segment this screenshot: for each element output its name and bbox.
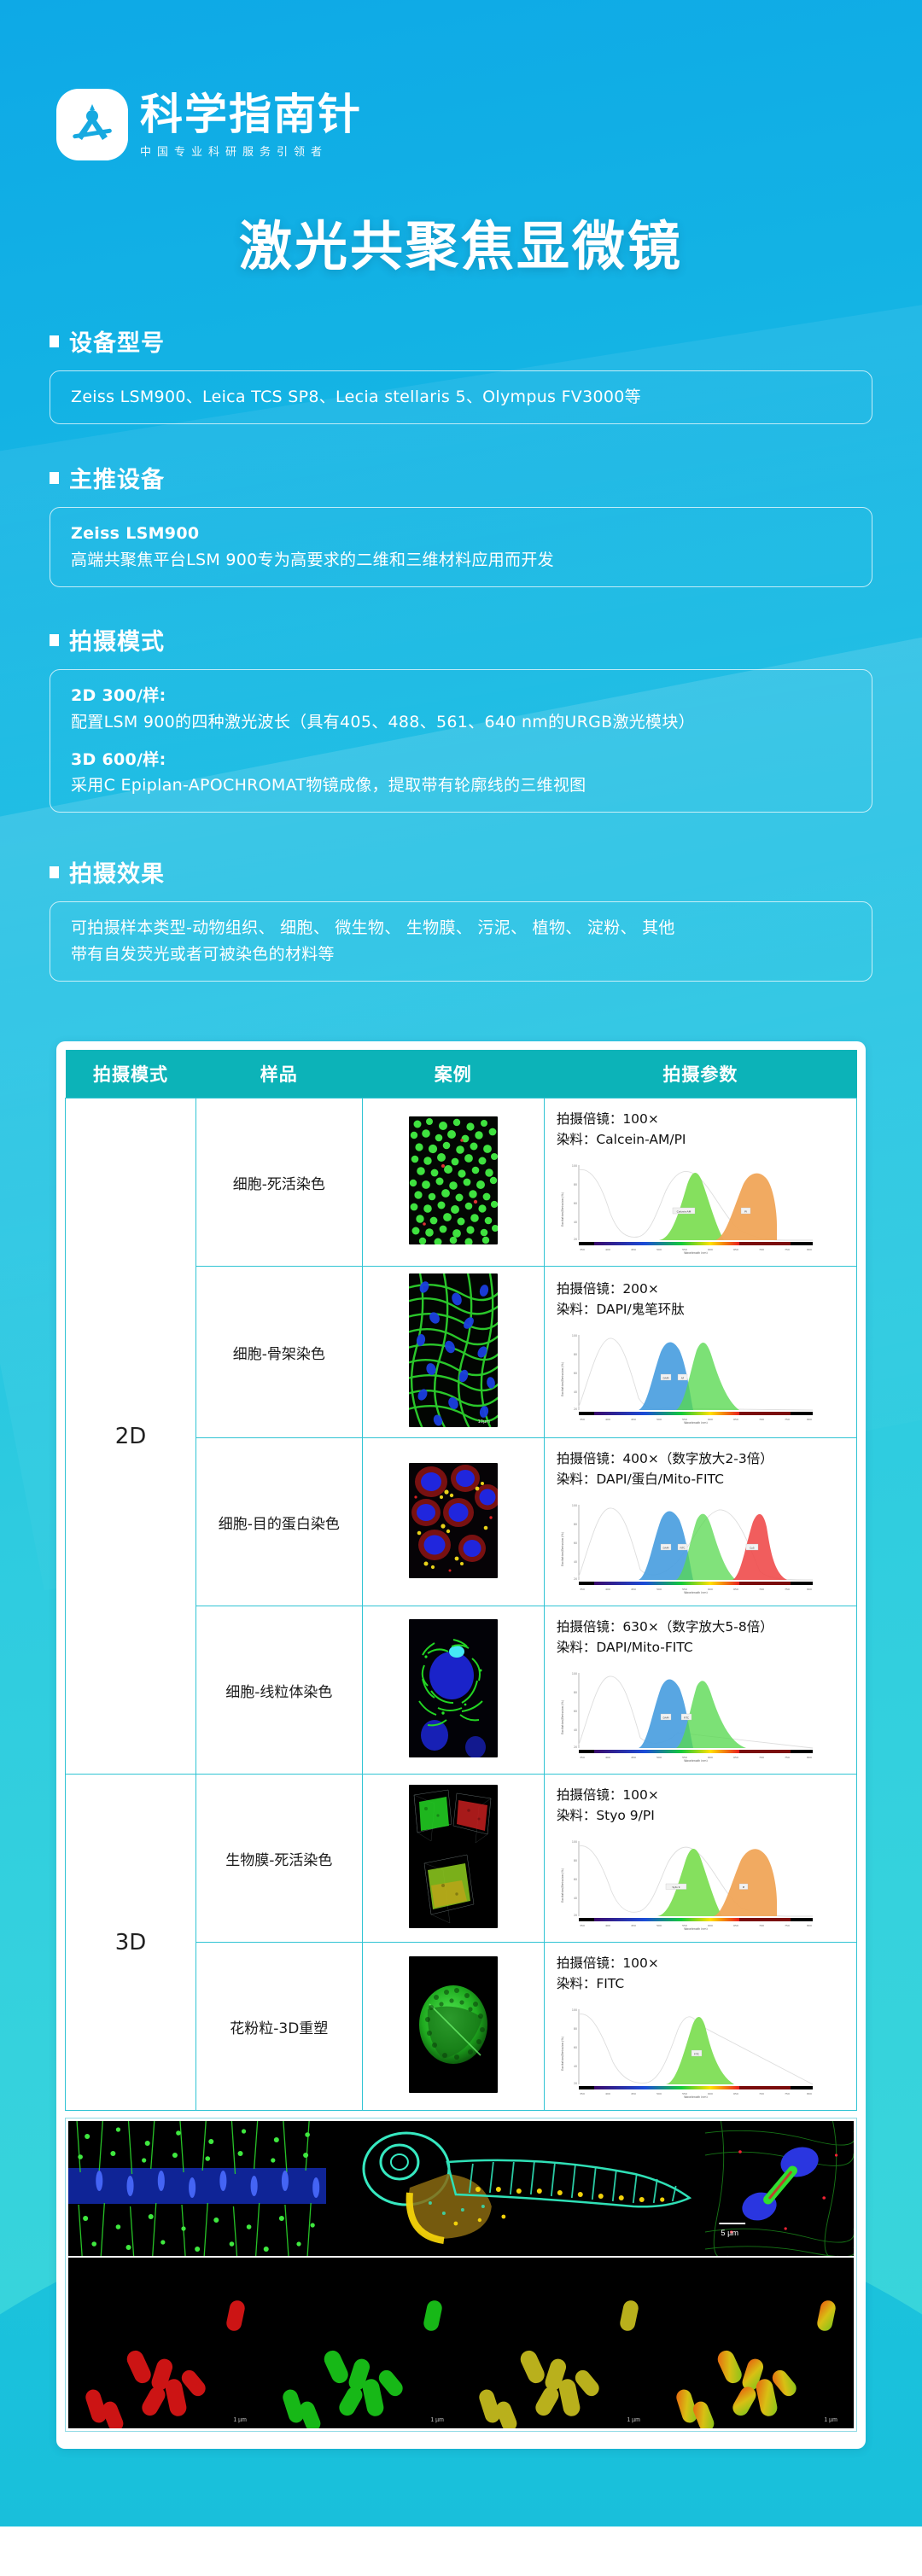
image-gallery: 5 µm 1 µm <box>65 2118 857 2432</box>
sample-name: 细胞-线粒体染色 <box>195 1606 362 1775</box>
svg-text:350: 350 <box>580 1248 585 1251</box>
bullet-square-icon <box>50 472 59 484</box>
spectra-dapi-phalloidin-chart: Excitation/Emission (%) 10080604020 <box>557 1328 838 1424</box>
section-header: 主推设备 <box>50 461 872 494</box>
params-cell: 拍摄倍镜：100× 染料：Styo 9/PI Excitation/Emissi… <box>544 1775 856 1943</box>
table-header-row: 拍摄模式 样品 案例 拍摄参数 <box>66 1050 857 1099</box>
results-card: 拍摄模式 样品 案例 拍摄参数 2D 细胞-死活染色 <box>56 1041 866 2449</box>
svg-text:750: 750 <box>785 1418 790 1421</box>
param-magnification: 拍摄倍镜：200× <box>557 1279 856 1299</box>
section-content-box: 2D 300/样: 配置LSM 900的四种激光波长（具有405、488、561… <box>50 669 872 813</box>
zebrafish-embryo-image <box>328 2121 703 2256</box>
svg-text:20: 20 <box>574 1746 577 1749</box>
svg-text:400: 400 <box>605 1418 610 1421</box>
svg-text:600: 600 <box>708 1924 713 1927</box>
svg-text:Wavelength (nm): Wavelength (nm) <box>684 1591 708 1594</box>
svg-text:40: 40 <box>574 1221 577 1224</box>
svg-text:600: 600 <box>708 1588 713 1591</box>
svg-text:400: 400 <box>605 1248 610 1251</box>
compass-icon <box>56 89 128 160</box>
svg-text:Calcein-AM: Calcein-AM <box>676 1209 691 1213</box>
green-blue-cytoskeleton-micrograph: 10µm <box>409 1273 498 1427</box>
section-shooting-mode: 拍摄模式 2D 300/样: 配置LSM 900的四种激光波长（具有405、48… <box>50 623 872 813</box>
svg-text:PI: PI <box>744 1209 747 1213</box>
spacer <box>71 736 851 747</box>
svg-text:FITC: FITC <box>694 2052 699 2055</box>
svg-text:FITC: FITC <box>684 1716 689 1719</box>
svg-text:700: 700 <box>759 1418 764 1421</box>
svg-text:100: 100 <box>572 2008 577 2012</box>
svg-text:800: 800 <box>807 2092 812 2095</box>
params-cell: 拍摄倍镜：400×（数字放大2-3倍） 染料：DAPI/蛋白/Mito-FITC… <box>544 1438 856 1606</box>
dividing-cell-image: 5 µm <box>705 2121 854 2256</box>
svg-text:20: 20 <box>574 1238 577 1241</box>
svg-text:80: 80 <box>574 1353 577 1356</box>
svg-text:100: 100 <box>572 1504 577 1507</box>
svg-text:500: 500 <box>656 1924 662 1927</box>
param-dye: 染料：Styo 9/PI <box>557 1805 856 1826</box>
svg-text:10µm: 10µm <box>477 1419 490 1425</box>
gallery-row-bottom: 1 µm 1 µm <box>68 2258 854 2428</box>
svg-text:700: 700 <box>759 1588 764 1591</box>
case-image-cell <box>362 1775 544 1943</box>
section-title: 拍摄模式 <box>69 623 165 656</box>
mode-cell-3d: 3D <box>66 1775 196 2111</box>
params-cell: 拍摄倍镜：630×（数字放大5-8倍） 染料：DAPI/Mito-FITC Ex… <box>544 1606 856 1775</box>
pollen-3d-micrograph <box>409 1956 498 2093</box>
svg-text:600: 600 <box>708 1756 713 1759</box>
svg-text:500: 500 <box>656 1756 662 1759</box>
section-title: 设备型号 <box>69 324 165 358</box>
bacteria-red-channel-image: 1 µm <box>68 2258 264 2428</box>
bacteria-yellow-channel-image: 1 µm <box>462 2258 657 2428</box>
sample-name: 细胞-死活染色 <box>195 1099 362 1267</box>
col-header-sample: 样品 <box>195 1050 362 1099</box>
svg-text:AF: AF <box>681 1376 685 1379</box>
svg-text:40: 40 <box>574 2065 577 2068</box>
svg-text:FITC: FITC <box>680 1546 685 1549</box>
svg-text:40: 40 <box>574 1897 577 1900</box>
svg-text:Syto 9: Syto 9 <box>672 1885 680 1889</box>
section-text: 3D 600/样: <box>71 747 851 773</box>
svg-text:800: 800 <box>807 1418 812 1421</box>
svg-text:650: 650 <box>733 2092 738 2095</box>
svg-text:80: 80 <box>574 1183 577 1186</box>
green-cells-micrograph <box>409 1116 498 1244</box>
svg-text:750: 750 <box>785 1248 790 1251</box>
svg-text:450: 450 <box>631 1418 636 1421</box>
params-cell: 拍摄倍镜：100× 染料：FITC Excitation/Emission (%… <box>544 1943 856 2111</box>
svg-text:Wavelength (nm): Wavelength (nm) <box>684 1421 708 1424</box>
svg-text:700: 700 <box>759 1924 764 1927</box>
case-image-cell <box>362 1606 544 1775</box>
sample-name: 细胞-骨架染色 <box>195 1267 362 1438</box>
svg-text:Excitation/Emission (%): Excitation/Emission (%) <box>561 1868 564 1903</box>
background-bottom-white <box>0 2526 922 2576</box>
section-content-box: 可拍摄样本类型-动物组织、 细胞、 微生物、 生物膜、 污泥、 植物、 淀粉、 … <box>50 901 872 982</box>
svg-text:400: 400 <box>605 1588 610 1591</box>
bullet-square-icon <box>50 634 59 646</box>
gallery-row-top: 5 µm <box>68 2121 854 2256</box>
svg-text:PI: PI <box>743 1885 745 1889</box>
svg-text:500: 500 <box>656 1248 662 1251</box>
svg-text:600: 600 <box>708 1248 713 1251</box>
svg-text:Excitation/Emission (%): Excitation/Emission (%) <box>561 1699 564 1734</box>
section-content-box: Zeiss LSM900、Leica TCS SP8、Lecia stellar… <box>50 370 872 424</box>
param-dye: 染料：Calcein-AM/PI <box>557 1129 856 1150</box>
param-dye: 染料：FITC <box>557 1973 856 1994</box>
section-text: 配置LSM 900的四种激光波长（具有405、488、561、640 nm的UR… <box>71 709 851 736</box>
svg-text:Excitation/Emission (%): Excitation/Emission (%) <box>561 1361 564 1396</box>
svg-text:750: 750 <box>785 1756 790 1759</box>
svg-text:60: 60 <box>574 1372 577 1375</box>
svg-text:60: 60 <box>574 1202 577 1205</box>
svg-text:40: 40 <box>574 1560 577 1564</box>
biofilm-3d-micrograph <box>409 1785 498 1928</box>
params-cell: 拍摄倍镜：100× 染料：Calcein-AM/PI Excitation/Em… <box>544 1099 856 1267</box>
mode-cell-2d: 2D <box>66 1099 196 1775</box>
svg-text:700: 700 <box>759 1248 764 1251</box>
svg-text:400: 400 <box>605 1924 610 1927</box>
spectra-calcein-pi-chart: Excitation/Emission (%) 10080604020 <box>557 1158 838 1254</box>
table-row: 3D 生物膜-死活染色 <box>66 1775 857 1943</box>
svg-text:650: 650 <box>733 1588 738 1591</box>
svg-text:80: 80 <box>574 1691 577 1694</box>
svg-text:20: 20 <box>574 1577 577 1581</box>
spectra-syto9-pi-chart: Excitation/Emission (%) 10080604020 <box>557 1834 838 1930</box>
svg-text:650: 650 <box>733 1248 738 1251</box>
svg-text:350: 350 <box>580 1418 585 1421</box>
svg-text:Wavelength (nm): Wavelength (nm) <box>684 1927 708 1930</box>
section-text: 采用C Epiplan-APOCHROMAT物镜成像，提取带有轮廓线的三维视图 <box>71 772 851 799</box>
case-image-cell <box>362 1099 544 1267</box>
section-text: 高端共聚焦平台LSM 900专为高要求的二维和三维材料应用而开发 <box>71 547 851 574</box>
col-header-case: 案例 <box>362 1050 544 1099</box>
param-magnification: 拍摄倍镜：100× <box>557 1785 856 1805</box>
case-image-cell <box>362 1438 544 1606</box>
svg-text:500: 500 <box>656 1418 662 1421</box>
shooting-parameters-table: 拍摄模式 样品 案例 拍摄参数 2D 细胞-死活染色 <box>65 1050 857 2111</box>
section-shooting-effect: 拍摄效果 可拍摄样本类型-动物组织、 细胞、 微生物、 生物膜、 污泥、 植物、… <box>50 855 872 982</box>
svg-text:800: 800 <box>807 1588 812 1591</box>
svg-text:60: 60 <box>574 1542 577 1545</box>
svg-text:750: 750 <box>785 2092 790 2095</box>
sample-name: 花粉粒-3D重塑 <box>195 1943 362 2111</box>
svg-text:800: 800 <box>807 1756 812 1759</box>
svg-text:600: 600 <box>708 1418 713 1421</box>
svg-text:400: 400 <box>605 1756 610 1759</box>
svg-text:450: 450 <box>631 1588 636 1591</box>
svg-text:Cy5: Cy5 <box>750 1546 755 1549</box>
svg-text:100: 100 <box>572 1334 577 1338</box>
svg-text:350: 350 <box>580 2092 585 2095</box>
section-device-model: 设备型号 Zeiss LSM900、Leica TCS SP8、Lecia st… <box>50 324 872 424</box>
param-dye: 染料：DAPI/鬼笔环肽 <box>557 1299 856 1320</box>
svg-text:500: 500 <box>656 1588 662 1591</box>
svg-text:80: 80 <box>574 1523 577 1526</box>
svg-text:60: 60 <box>574 2046 577 2049</box>
svg-text:100: 100 <box>572 1164 577 1168</box>
table-row: 2D 细胞-死活染色 <box>66 1099 857 1267</box>
svg-text:Wavelength (nm): Wavelength (nm) <box>684 1251 708 1254</box>
svg-text:80: 80 <box>574 1859 577 1862</box>
spectra-fitc-chart: Excitation/Emission (%) 10080604020 3504… <box>557 2002 838 2098</box>
section-text: 2D 300/样: <box>71 683 851 709</box>
svg-text:800: 800 <box>807 1924 812 1927</box>
svg-text:80: 80 <box>574 2027 577 2031</box>
param-dye: 染料：DAPI/Mito-FITC <box>557 1637 856 1658</box>
section-text: 带有自发荧光或者可被染色的材料等 <box>71 941 851 968</box>
svg-text:350: 350 <box>580 1924 585 1927</box>
scalebar-label: 1 µm <box>430 2417 444 2423</box>
page-title: 激光共聚焦显微镜 <box>0 203 922 280</box>
svg-text:450: 450 <box>631 1924 636 1927</box>
svg-text:650: 650 <box>733 1418 738 1421</box>
spectra-dapi-protein-mito-chart: Excitation/Emission (%) 10080604020 <box>557 1498 838 1594</box>
svg-text:400: 400 <box>605 2092 610 2095</box>
svg-text:450: 450 <box>631 2092 636 2095</box>
param-magnification: 拍摄倍镜：630×（数字放大5-8倍） <box>557 1617 856 1637</box>
svg-text:450: 450 <box>631 1248 636 1251</box>
brand-name: 科学指南针 <box>140 92 362 137</box>
tissue-green-blue-image <box>68 2121 326 2256</box>
scalebar-label: 1 µm <box>824 2417 837 2423</box>
svg-text:40: 40 <box>574 1728 577 1732</box>
section-header: 拍摄模式 <box>50 623 872 656</box>
svg-text:600: 600 <box>708 2092 713 2095</box>
blue-green-mitochondria-micrograph <box>409 1619 498 1757</box>
section-text: Zeiss LSM900 <box>71 521 851 547</box>
sample-name: 生物膜-死活染色 <box>195 1775 362 1943</box>
svg-text:100: 100 <box>572 1672 577 1676</box>
section-title: 拍摄效果 <box>69 855 165 889</box>
svg-text:350: 350 <box>580 1588 585 1591</box>
svg-text:Wavelength (nm): Wavelength (nm) <box>684 2095 708 2098</box>
section-header: 拍摄效果 <box>50 855 872 889</box>
svg-text:Excitation/Emission (%): Excitation/Emission (%) <box>561 2037 564 2072</box>
svg-text:40: 40 <box>574 1390 577 1394</box>
bullet-square-icon <box>50 335 59 347</box>
svg-text:700: 700 <box>759 2092 764 2095</box>
svg-text:20: 20 <box>574 1407 577 1411</box>
section-text: 可拍摄样本类型-动物组织、 细胞、 微生物、 生物膜、 污泥、 植物、 淀粉、 … <box>71 915 851 941</box>
svg-text:DAPI: DAPI <box>662 1376 668 1379</box>
svg-text:Excitation/Emission (%): Excitation/Emission (%) <box>561 1192 564 1227</box>
svg-text:20: 20 <box>574 1914 577 1917</box>
spectra-dapi-mito-chart: Excitation/Emission (%) 10080604020 <box>557 1666 838 1762</box>
section-content-box: Zeiss LSM900 高端共聚焦平台LSM 900专为高要求的二维和三维材料… <box>50 507 872 587</box>
param-dye: 染料：DAPI/蛋白/Mito-FITC <box>557 1469 856 1489</box>
param-magnification: 拍摄倍镜：100× <box>557 1953 856 1973</box>
case-image-cell <box>362 1943 544 2111</box>
scalebar-label: 1 µm <box>627 2417 640 2423</box>
brand-logo: 科学指南针 中国专业科研服务引领者 <box>56 89 362 160</box>
svg-text:350: 350 <box>580 1756 585 1759</box>
col-header-mode: 拍摄模式 <box>66 1050 196 1099</box>
param-magnification: 拍摄倍镜：400×（数字放大2-3倍） <box>557 1448 856 1469</box>
col-header-params: 拍摄参数 <box>544 1050 856 1099</box>
section-header: 设备型号 <box>50 324 872 358</box>
svg-text:Wavelength (nm): Wavelength (nm) <box>684 1759 708 1762</box>
svg-text:700: 700 <box>759 1756 764 1759</box>
svg-text:60: 60 <box>574 1878 577 1881</box>
svg-text:20: 20 <box>574 2082 577 2085</box>
params-cell: 拍摄倍镜：200× 染料：DAPI/鬼笔环肽 Excitation/Emissi… <box>544 1267 856 1438</box>
blue-red-protein-micrograph <box>409 1463 498 1578</box>
param-magnification: 拍摄倍镜：100× <box>557 1109 856 1129</box>
svg-text:60: 60 <box>574 1710 577 1713</box>
svg-text:750: 750 <box>785 1924 790 1927</box>
svg-text:Excitation/Emission (%): Excitation/Emission (%) <box>561 1531 564 1566</box>
svg-text:DAPI: DAPI <box>662 1546 668 1549</box>
section-text: Zeiss LSM900、Leica TCS SP8、Lecia stellar… <box>71 384 851 411</box>
bacteria-merge-channel-image: 1 µm <box>659 2258 855 2428</box>
svg-text:DAPI: DAPI <box>662 1716 668 1719</box>
svg-text:750: 750 <box>785 1588 790 1591</box>
case-image-cell: 10µm <box>362 1267 544 1438</box>
svg-text:100: 100 <box>572 1840 577 1844</box>
sample-name: 细胞-目的蛋白染色 <box>195 1438 362 1606</box>
scalebar-label: 5 µm <box>721 2229 738 2237</box>
section-title: 主推设备 <box>69 461 165 494</box>
svg-text:800: 800 <box>807 1248 812 1251</box>
svg-text:650: 650 <box>733 1756 738 1759</box>
svg-text:650: 650 <box>733 1924 738 1927</box>
bacteria-green-channel-image: 1 µm <box>266 2258 461 2428</box>
svg-text:450: 450 <box>631 1756 636 1759</box>
bullet-square-icon <box>50 866 59 878</box>
card-bottom-spacer <box>65 2432 857 2440</box>
svg-text:500: 500 <box>656 2092 662 2095</box>
scalebar-label: 1 µm <box>233 2417 247 2423</box>
section-featured-device: 主推设备 Zeiss LSM900 高端共聚焦平台LSM 900专为高要求的二维… <box>50 461 872 587</box>
brand-tagline: 中国专业科研服务引领者 <box>140 143 362 159</box>
